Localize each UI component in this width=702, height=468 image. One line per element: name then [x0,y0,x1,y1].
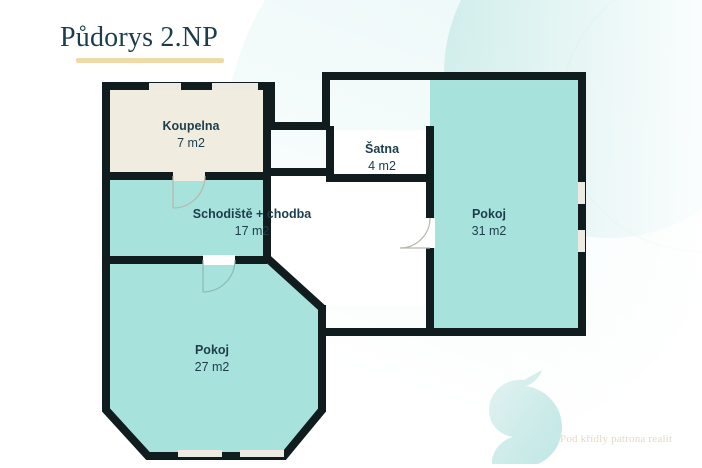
room-label-pokoj-bottom-left: Pokoj 27 m2 [195,342,230,376]
room-name-pokoj-right: Pokoj [472,206,507,222]
room-area-pokoj-right: 31 m2 [472,222,507,240]
room-area-satna: 4 m2 [365,157,399,175]
window-koupelna-1 [149,83,181,90]
window-pokoj-right-1 [578,182,585,204]
room-label-pokoj-right: Pokoj 31 m2 [472,206,507,240]
window-koupelna-2 [212,83,258,90]
room-label-schodiste-chodba: Schodiště + chodba 17 m2 [193,206,311,240]
door-gap-koupelna [173,171,205,181]
room-label-satna: Šatna 4 m2 [365,141,399,175]
room-name-koupelna: Koupelna [163,118,220,134]
room-name-schodiste-chodba: Schodiště + chodba [193,206,311,222]
watermark-tagline: Pod křídly patrona realit [560,433,672,445]
window-pokoj-bottom-1 [178,450,222,457]
room-label-koupelna: Koupelna 7 m2 [163,118,220,152]
room-area-koupelna: 7 m2 [163,134,220,152]
room-fill-pokoj-right [430,80,578,328]
room-area-schodiste-chodba: 17 m2 [193,222,311,240]
room-name-satna: Šatna [365,141,399,157]
room-name-pokoj-bottom-left: Pokoj [195,342,230,358]
room-area-pokoj-bottom-left: 27 m2 [195,358,230,376]
window-pokoj-bottom-2 [240,450,284,457]
floorplan-page: Půdorys 2.NP [0,0,702,468]
floorplan-drawing [0,0,702,468]
wing-swoosh-logo [489,370,562,464]
window-pokoj-right-2 [578,230,585,252]
door-gap-pokoj-bottom-left [203,255,235,265]
